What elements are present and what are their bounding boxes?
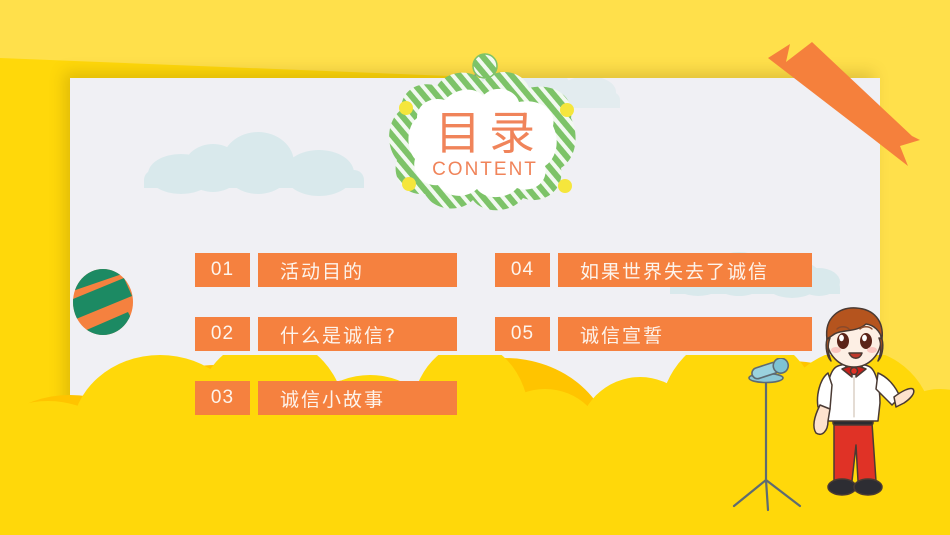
item-number: 03 xyxy=(195,381,250,415)
list-item[interactable]: 05 诚信宣誓 xyxy=(495,317,812,351)
item-label: 什么是诚信? xyxy=(258,317,457,351)
item-label: 如果世界失去了诚信 xyxy=(558,253,812,287)
item-label: 诚信小故事 xyxy=(258,381,457,415)
item-number: 04 xyxy=(495,253,550,287)
presentation-slide: 目录 CONTENT 01 活动目的 02 什么是诚信? 03 诚信小故事 04… xyxy=(0,0,950,535)
item-number: 05 xyxy=(495,317,550,351)
item-label: 活动目的 xyxy=(258,253,457,287)
list-item[interactable]: 01 活动目的 xyxy=(195,253,457,287)
boy-character-icon xyxy=(800,305,915,520)
item-label: 诚信宣誓 xyxy=(558,317,812,351)
list-item[interactable]: 04 如果世界失去了诚信 xyxy=(495,253,812,287)
list-item[interactable]: 02 什么是诚信? xyxy=(195,317,457,351)
item-number: 02 xyxy=(195,317,250,351)
list-item[interactable]: 03 诚信小故事 xyxy=(195,381,457,415)
item-number: 01 xyxy=(195,253,250,287)
